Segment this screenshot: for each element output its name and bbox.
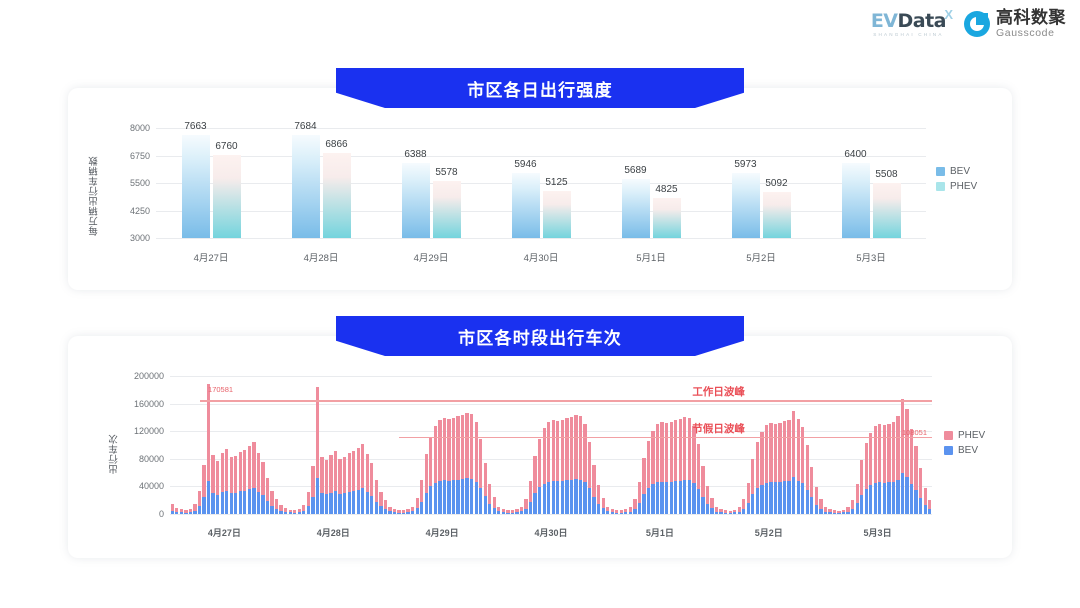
chart2-segment-phev	[819, 499, 822, 509]
chart2-stacked-bar	[851, 500, 854, 514]
chart2-segment-phev	[778, 423, 781, 482]
chart2-segment-phev	[552, 420, 555, 481]
chart2-stacked-bar	[633, 499, 636, 514]
chart2-segment-bev	[765, 483, 768, 514]
chart2-segment-bev	[447, 481, 450, 514]
chart2-segment-bev	[411, 511, 414, 514]
chart2-segment-bev	[670, 482, 673, 514]
chart2-stacked-bar	[515, 509, 518, 514]
chart2-segment-bev	[774, 482, 777, 514]
chart2-segment-phev	[760, 432, 763, 485]
chart2-segment-phev	[742, 499, 745, 509]
chart2-segment-bev	[216, 495, 219, 514]
chart2-stacked-bar	[506, 510, 509, 514]
chart2-segment-phev	[348, 453, 351, 492]
chart2-segment-phev	[797, 419, 800, 480]
chart2-segment-bev	[529, 502, 532, 514]
chart2-segment-bev	[615, 513, 618, 514]
chart2-segment-bev	[579, 480, 582, 515]
chart2-segment-bev	[860, 495, 863, 514]
chart2-segment-bev	[316, 478, 319, 514]
chart2-segment-bev	[742, 509, 745, 514]
chart2-segment-phev	[524, 499, 527, 509]
chart2-segment-phev	[234, 456, 237, 493]
chart2-y-tick: 80000	[139, 454, 164, 464]
evdata-x-icon: X	[944, 7, 953, 22]
chart2-segment-phev	[198, 491, 201, 506]
holiday-peak-label: 节假日波峰	[692, 421, 745, 436]
chart2-segment-bev	[783, 481, 786, 514]
chart2-stacked-bar	[447, 419, 450, 514]
chart2-segment-bev	[592, 497, 595, 514]
chart2-stacked-bar	[706, 486, 709, 514]
chart2-segment-bev	[801, 483, 804, 514]
chart2-stacked-bar	[248, 446, 251, 514]
chart2-stacked-bar	[289, 510, 292, 514]
chart2-segment-phev	[384, 500, 387, 509]
chart2-segment-bev	[443, 480, 446, 514]
chart2-legend: PHEVBEV	[944, 430, 985, 460]
chart2-segment-phev	[352, 451, 355, 491]
chart1-y-axis-title: 每万辆出行车辆数	[88, 130, 102, 236]
chart2-segment-bev	[470, 479, 473, 514]
chart2-segment-phev	[452, 418, 455, 480]
chart2-segment-phev	[856, 484, 859, 504]
chart2-segment-phev	[484, 463, 487, 496]
chart2-segment-phev	[275, 499, 278, 509]
chart2-stacked-bar	[411, 507, 414, 514]
chart2-stacked-bar	[402, 510, 405, 514]
chart2-segment-phev	[479, 439, 482, 487]
chart2-segment-bev	[656, 482, 659, 514]
chart2-segment-bev	[769, 482, 772, 514]
chart2-segment-bev	[484, 496, 487, 514]
chart2-segment-phev	[928, 500, 931, 509]
chart2-stacked-bar	[171, 504, 174, 514]
chart2-segment-bev	[284, 512, 287, 514]
chart2-segment-bev	[869, 485, 872, 514]
chart2-segment-bev	[851, 509, 854, 514]
chart2-stacked-bar	[874, 426, 877, 514]
chart2-stacked-bar	[715, 507, 718, 514]
chart2-segment-bev	[706, 504, 709, 514]
chart2-segment-bev	[329, 493, 332, 514]
chart2-segment-bev	[420, 502, 423, 514]
chart2-legend-label: PHEV	[958, 430, 985, 441]
chart2-legend-label: BEV	[958, 445, 978, 456]
chart2-segment-phev	[307, 492, 310, 506]
chart2-stacked-bar	[747, 483, 750, 514]
chart1-bar-phev: 6760	[213, 155, 241, 238]
chart2-stacked-bar	[302, 505, 305, 514]
chart1-y-tick: 4250	[130, 206, 150, 216]
chart2-segment-bev	[565, 480, 568, 514]
chart2-stacked-bar	[692, 426, 695, 514]
chart2-segment-phev	[556, 421, 559, 481]
chart2-segment-bev	[905, 477, 908, 514]
chart1-legend: BEVPHEV	[936, 166, 977, 196]
chart2-segment-bev	[756, 488, 759, 514]
chart2-segment-bev	[393, 512, 396, 514]
chart2-segment-phev	[588, 442, 591, 489]
chart2-segment-bev	[461, 479, 464, 514]
chart2-segment-bev	[352, 491, 355, 514]
chart2-segment-bev	[425, 493, 428, 514]
chart2-stacked-bar	[751, 459, 754, 514]
chart2-segment-phev	[896, 416, 899, 479]
chart2-segment-bev	[239, 491, 242, 514]
chart1-legend-item-phev[interactable]: PHEV	[936, 181, 977, 192]
chart2-stacked-bar	[765, 425, 768, 514]
chart2-stacked-bar	[266, 478, 269, 514]
chart2-segment-phev	[579, 416, 582, 479]
chart2-stacked-bar	[597, 485, 600, 514]
chart2-segment-bev	[778, 482, 781, 514]
chart2-stacked-bar	[719, 509, 722, 514]
chart1-bar-value: 5092	[765, 178, 787, 189]
gausscode-wordmark: 高科数聚 Gausscode	[996, 9, 1066, 39]
chart2-segment-bev	[289, 512, 292, 514]
chart2-stacked-bar	[638, 482, 641, 514]
chart2-segment-phev	[638, 482, 641, 503]
chart2-plot-area	[170, 376, 932, 514]
chart2-stacked-bar	[524, 499, 527, 514]
chart1-bar-value: 7663	[184, 121, 206, 132]
chart2-segment-bev	[651, 484, 654, 514]
chart2-segment-bev	[475, 482, 478, 514]
chart2-stacked-bar	[688, 418, 691, 514]
chart2-segment-bev	[202, 497, 205, 514]
chart1-legend-item-bev[interactable]: BEV	[936, 166, 977, 177]
chart2-segment-bev	[261, 495, 264, 514]
chart2-segment-phev	[792, 411, 795, 478]
chart2-legend-item-bev[interactable]: BEV	[944, 445, 985, 456]
chart2-segment-phev	[883, 425, 886, 482]
chart2-x-tick: 4月28日	[317, 526, 350, 539]
chart2-stacked-bar	[819, 499, 822, 514]
chart1-x-tick: 4月30日	[524, 250, 559, 264]
chart2-stacked-bar	[261, 462, 264, 514]
chart2-stacked-bar	[325, 460, 328, 515]
gausscode-mark-icon	[964, 11, 990, 37]
chart2-segment-bev	[279, 511, 282, 514]
chart2-segment-bev	[388, 511, 391, 514]
chart2-segment-phev	[806, 445, 809, 490]
chart2-stacked-bar	[792, 411, 795, 515]
chart2-stacked-bar	[329, 455, 332, 514]
chart2-segment-phev	[878, 424, 881, 482]
chart1-x-tick: 4月29日	[414, 250, 449, 264]
chart2-segment-bev	[520, 511, 523, 514]
chart2-segment-bev	[524, 509, 527, 514]
chart2-stacked-bar	[801, 427, 804, 514]
chart2-stacked-bar	[611, 509, 614, 514]
chart2-segment-bev	[334, 491, 337, 514]
chart2-segment-bev	[738, 512, 741, 514]
chart2-segment-phev	[329, 455, 332, 492]
chart2-stacked-bar	[860, 460, 863, 514]
chart2-segment-phev	[583, 424, 586, 482]
page-header: EVData X SHANGHAI CHINA 高科数聚 Gausscode	[0, 0, 1080, 52]
chart2-x-tick: 4月27日	[208, 526, 241, 539]
chart2-segment-bev	[819, 509, 822, 514]
chart2-segment-bev	[588, 488, 591, 514]
chart2-stacked-bar	[588, 442, 591, 514]
chart2-segment-bev	[837, 513, 840, 514]
chart2-segment-bev	[679, 481, 682, 514]
chart1-bar-bev: 6388	[402, 163, 430, 238]
chart2-y-tick: 200000	[134, 371, 164, 381]
chart2-segment-bev	[538, 487, 541, 514]
chart2-segment-bev	[842, 512, 845, 514]
chart2-segment-phev	[529, 481, 532, 502]
legend-swatch-icon	[936, 182, 945, 191]
chart2-segment-bev	[892, 482, 895, 514]
chart2-segment-bev	[370, 496, 373, 514]
chart2-stacked-bar	[452, 418, 455, 514]
chart2-segment-phev	[547, 422, 550, 481]
chart2-segment-bev	[710, 508, 713, 514]
chart2-segment-bev	[660, 482, 663, 514]
chart2-segment-bev	[833, 513, 836, 514]
chart2-segment-phev	[420, 480, 423, 502]
chart2-segment-phev	[221, 453, 224, 492]
chart2-stacked-bar	[366, 454, 369, 514]
chart2-segment-bev	[198, 506, 201, 514]
chart2-stacked-bar	[556, 421, 559, 514]
chart2-stacked-bar	[484, 463, 487, 514]
chart2-stacked-bar	[234, 456, 237, 514]
chart2-stacked-bar	[710, 498, 713, 514]
chart2-segment-phev	[642, 458, 645, 494]
chart2-stacked-bar	[606, 507, 609, 514]
chart1-legend-label: PHEV	[950, 181, 977, 192]
chart2-legend-item-phev[interactable]: PHEV	[944, 430, 985, 441]
chart2-stacked-bar	[724, 510, 727, 514]
chart2-segment-bev	[311, 497, 314, 514]
chart2-stacked-bar	[443, 418, 446, 514]
chart2-stacked-bar	[533, 456, 536, 514]
chart2-segment-phev	[774, 424, 777, 482]
chart2-segment-bev	[361, 488, 364, 514]
chart1-gridline	[156, 238, 926, 239]
chart2-stacked-bar	[919, 468, 922, 514]
chart2-segment-phev	[570, 417, 573, 480]
chart2-segment-bev	[697, 489, 700, 514]
chart1-bar-phev: 5508	[873, 183, 901, 238]
chart2-segment-bev	[384, 509, 387, 514]
chart2-stacked-bar	[574, 415, 577, 514]
chart2-segment-phev	[919, 468, 922, 498]
chart1-y-tick: 3000	[130, 233, 150, 243]
chart2-stacked-bar	[615, 510, 618, 514]
chart2-segment-phev	[633, 499, 636, 509]
chart2-segment-phev	[756, 442, 759, 488]
chart2-segment-bev	[429, 486, 432, 514]
chart2-stacked-bar	[620, 510, 623, 514]
chart2-segment-phev	[670, 422, 673, 481]
chart2-segment-bev	[320, 493, 323, 514]
chart1-x-tick: 5月2日	[746, 250, 776, 264]
chart2-stacked-bar	[647, 441, 650, 514]
chart1-x-tick: 5月1日	[636, 250, 666, 264]
chart2-segment-bev	[729, 513, 732, 514]
chart2-stacked-bar	[896, 416, 899, 514]
chart2-segment-bev	[552, 481, 555, 514]
evdata-suffix: Data	[898, 10, 947, 32]
chart1-bar-bev: 5689	[622, 179, 650, 238]
chart2-segment-bev	[506, 513, 509, 514]
chart2-segment-bev	[874, 483, 877, 514]
chart2-gridline	[170, 514, 932, 515]
chart2-stacked-bar	[683, 417, 686, 514]
chart2-segment-bev	[901, 473, 904, 514]
chart1-bar-value: 5578	[435, 167, 457, 178]
chart1-bar-bev: 5946	[512, 173, 540, 238]
chart-daily-travel-intensity: 每万辆出行车辆数 30004250550067508000 7663676076…	[88, 118, 958, 263]
chart2-stacked-bar	[216, 461, 219, 514]
chart2-segment-phev	[375, 480, 378, 502]
chart2-stacked-bar	[914, 446, 917, 514]
evdata-tagline: SHANGHAI CHINA	[871, 32, 946, 37]
chart2-segment-bev	[715, 512, 718, 514]
chart2-stacked-bar	[624, 509, 627, 514]
chart1-bar-value: 5125	[545, 177, 567, 188]
first-peak-value: 170581	[208, 385, 233, 394]
workday-peak-label: 工作日波峰	[692, 384, 745, 399]
last-peak-value: 108051	[902, 428, 927, 437]
chart2-segment-phev	[602, 498, 605, 508]
chart1-bar-group: 56894825	[596, 128, 706, 238]
chart2-stacked-bar	[388, 507, 391, 514]
chart2-segment-bev	[225, 491, 228, 514]
chart2-stacked-bar	[211, 455, 214, 514]
chart1-y-tick: 6750	[130, 151, 150, 161]
chart2-segment-bev	[910, 484, 913, 514]
chart2-segment-bev	[488, 504, 491, 514]
chart2-stacked-bar	[316, 387, 319, 514]
chart1-bar-value: 6400	[844, 149, 866, 160]
chart2-segment-bev	[375, 502, 378, 514]
chart2-stacked-bar	[570, 417, 573, 514]
chart2-segment-bev	[402, 513, 405, 514]
chart2-stacked-bar	[420, 480, 423, 514]
chart2-segment-bev	[456, 480, 459, 515]
chart2-segment-phev	[211, 455, 214, 492]
chart2-stacked-bar	[470, 414, 473, 514]
chart2-stacked-bar	[375, 480, 378, 515]
chart2-segment-phev	[747, 483, 750, 503]
chart2-segment-phev	[860, 460, 863, 495]
chart2-segment-bev	[293, 513, 296, 514]
chart2-segment-phev	[810, 467, 813, 497]
chart2-segment-phev	[651, 431, 654, 485]
holiday-peak-line	[399, 437, 932, 439]
chart-hourly-trip-count: 出行车次 04000080000120000160000200000 工作日波峰…	[108, 368, 968, 538]
chart2-stacked-bar	[497, 507, 500, 514]
chart2-segment-bev	[620, 513, 623, 514]
chart2-stacked-bar	[320, 457, 323, 514]
chart2-stacked-bar	[865, 443, 868, 514]
chart2-stacked-bar	[674, 420, 677, 514]
chart2-segment-bev	[497, 511, 500, 514]
chart2-segment-phev	[343, 457, 346, 493]
chart2-y-tick: 0	[159, 509, 164, 519]
chart2-segment-bev	[452, 480, 455, 514]
chart2-segment-phev	[225, 449, 228, 490]
chart2-segment-bev	[883, 483, 886, 514]
chart2-x-tick: 5月2日	[755, 526, 783, 539]
chart2-stacked-bar	[552, 420, 555, 514]
chart2-stacked-bar	[760, 432, 763, 514]
gausscode-logo: 高科数聚 Gausscode	[964, 9, 1066, 39]
chart2-segment-phev	[679, 419, 682, 480]
chart2-segment-bev	[896, 480, 899, 515]
chart1-bar-bev: 7684	[292, 135, 320, 238]
chart2-segment-bev	[547, 482, 550, 514]
chart2-segment-bev	[683, 480, 686, 515]
chart2-segment-phev	[656, 424, 659, 482]
chart2-stacked-bar	[602, 498, 605, 514]
chart1-bar-bev: 6400	[842, 163, 870, 238]
legend-swatch-icon	[944, 446, 953, 455]
chart2-segment-bev	[647, 488, 650, 514]
chart2-stacked-bar	[538, 439, 541, 514]
chart2-segment-bev	[248, 489, 251, 514]
chart2-segment-phev	[701, 466, 704, 497]
chart2-stacked-bar	[393, 509, 396, 514]
chart2-segment-bev	[465, 478, 468, 514]
chart2-segment-phev	[230, 457, 233, 493]
chart2-segment-phev	[252, 442, 255, 488]
chart2-stacked-bar	[910, 429, 913, 514]
chart2-segment-phev	[456, 416, 459, 479]
chart2-stacked-bar	[207, 384, 210, 514]
chart2-segment-bev	[366, 492, 369, 514]
chart2-stacked-bar	[679, 419, 682, 514]
chart2-segment-phev	[597, 485, 600, 504]
chart2-stacked-bar	[298, 509, 301, 514]
chart2-segment-bev	[270, 506, 273, 514]
chart2-stacked-bar	[651, 431, 654, 514]
chart2-segment-phev	[851, 500, 854, 509]
chart2-segment-bev	[914, 490, 917, 514]
chart2-segment-phev	[592, 465, 595, 497]
chart2-segment-phev	[202, 465, 205, 497]
chart2-stacked-bar	[425, 454, 428, 514]
chart2-segment-bev	[379, 506, 382, 514]
chart1-bar-value: 6866	[325, 139, 347, 150]
chart1-x-tick: 4月27日	[194, 250, 229, 264]
chart1-bar-value: 4825	[655, 184, 677, 195]
chart2-segment-bev	[533, 493, 536, 514]
chart1-bar-phev: 5578	[433, 181, 461, 238]
chart2-stacked-bar	[815, 487, 818, 514]
chart1-bar-bev: 7663	[182, 135, 210, 238]
chart2-segment-phev	[924, 488, 927, 505]
chart2-segment-phev	[887, 424, 890, 482]
chart1-bar-bev: 5973	[732, 173, 760, 238]
chart2-stacked-bar	[701, 466, 704, 514]
chart2-segment-bev	[787, 481, 790, 514]
chart2-segment-phev	[475, 422, 478, 481]
chart2-segment-bev	[397, 513, 400, 514]
chart2-segment-bev	[307, 506, 310, 514]
chart2-segment-phev	[533, 456, 536, 493]
chart2-segment-phev	[683, 417, 686, 480]
chart1-bar-group: 64005508	[816, 128, 926, 238]
chart2-segment-bev	[846, 512, 849, 514]
